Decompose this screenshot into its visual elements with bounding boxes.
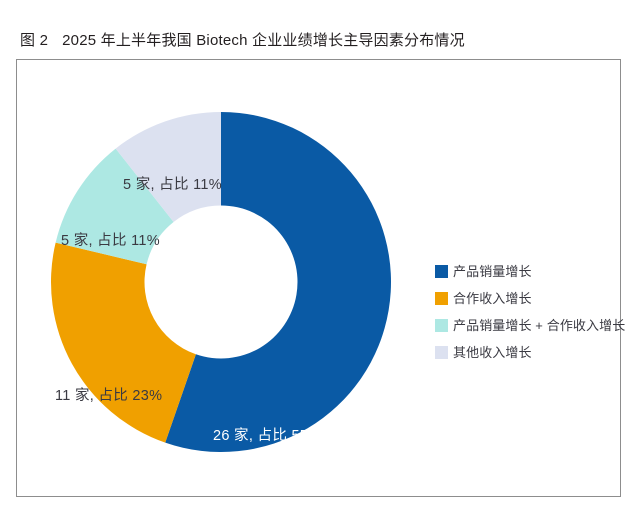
legend-item-collaboration-income[interactable]: 合作收入增长 [435, 285, 635, 312]
legend-item-combined[interactable]: 产品销量增长 + 合作收入增长 [435, 312, 635, 339]
figure-caption: 图 22025 年上半年我国 Biotech 企业业绩增长主导因素分布情况 [20, 30, 620, 54]
legend-swatch-icon [435, 319, 448, 332]
chart-frame: 5 家, 占比 11% 5 家, 占比 11% 11 家, 占比 23% 26 … [16, 59, 621, 497]
legend-item-product-sales[interactable]: 产品销量增长 [435, 258, 635, 285]
legend-label: 产品销量增长 + 合作收入增长 [453, 318, 625, 334]
slice-label-collaboration-income: 11 家, 占比 23% [55, 387, 162, 405]
slice-label-other-income: 5 家, 占比 11% [123, 176, 222, 194]
chart-legend: 产品销量增长 合作收入增长 产品销量增长 + 合作收入增长 其他收入增长 [435, 258, 635, 366]
legend-swatch-icon [435, 265, 448, 278]
legend-swatch-icon [435, 346, 448, 359]
figure-container: 图 22025 年上半年我国 Biotech 企业业绩增长主导因素分布情况 5 … [0, 0, 636, 523]
legend-swatch-icon [435, 292, 448, 305]
slice-label-product-sales: 26 家, 占比 55% [213, 427, 321, 445]
donut-slice[interactable] [51, 243, 196, 443]
legend-label: 合作收入增长 [453, 291, 532, 307]
slice-label-combined: 5 家, 占比 11% [61, 232, 160, 250]
figure-title: 2025 年上半年我国 Biotech 企业业绩增长主导因素分布情况 [62, 32, 465, 49]
legend-item-other-income[interactable]: 其他收入增长 [435, 339, 635, 366]
legend-label: 产品销量增长 [453, 264, 532, 280]
legend-label: 其他收入增长 [453, 345, 532, 361]
figure-number: 图 2 [20, 32, 48, 49]
